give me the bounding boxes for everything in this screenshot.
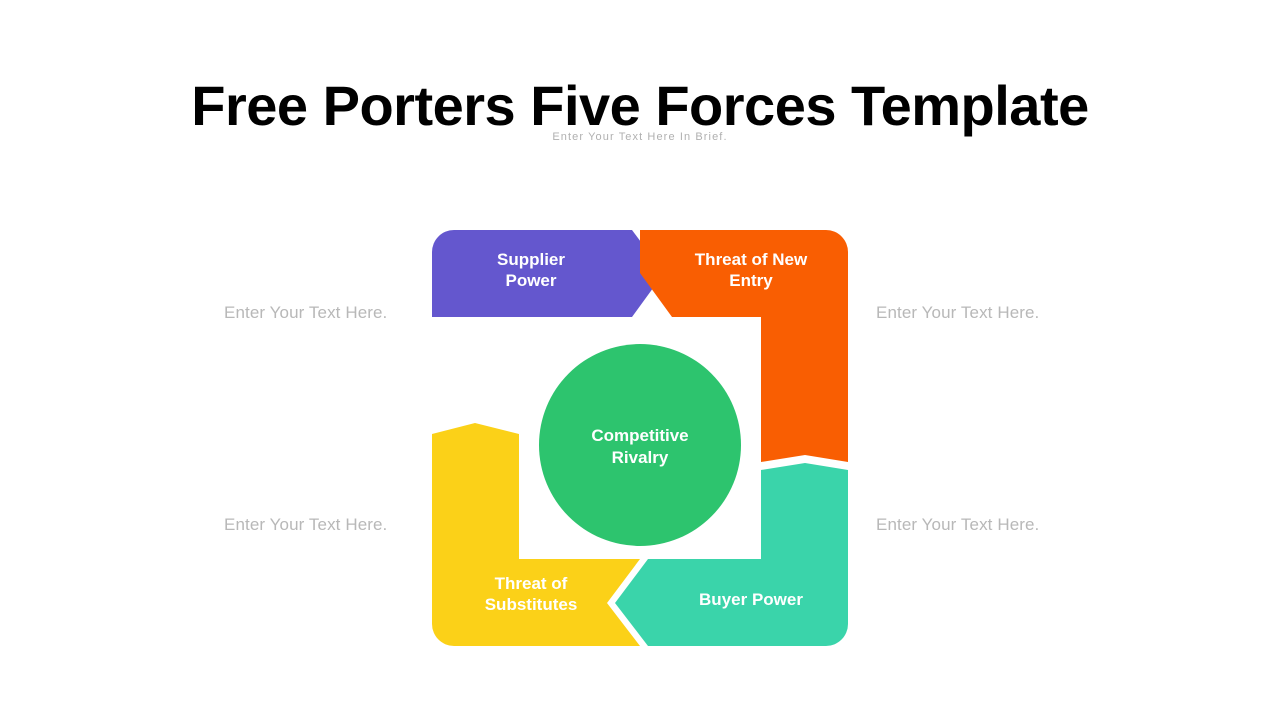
five-forces-diagram: Supplier Power Threat of New Entry Buyer… [432, 230, 848, 646]
annotation-right-top: Enter Your Text Here. [876, 303, 1039, 323]
center-circle-competitive-rivalry[interactable] [539, 344, 741, 546]
five-forces-svg [432, 230, 848, 646]
annotation-left-bottom: Enter Your Text Here. [224, 515, 387, 535]
annotation-left-top: Enter Your Text Here. [224, 303, 387, 323]
page-title: Free Porters Five Forces Template [0, 72, 1280, 139]
page-subtitle: Enter Your Text Here In Brief. [0, 130, 1280, 144]
annotation-right-bottom: Enter Your Text Here. [876, 515, 1039, 535]
